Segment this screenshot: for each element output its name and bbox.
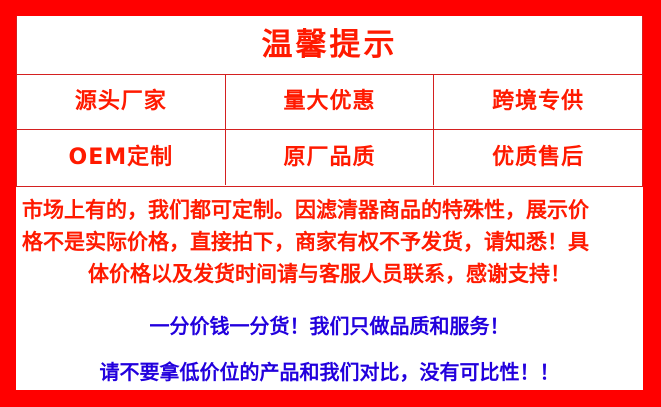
slogan-line-comparison: 请不要拿低价位的产品和我们对比，没有可比性！！ xyxy=(16,336,643,382)
feature-label: 优质售后 xyxy=(492,147,584,169)
features-table: 温馨提示 源头厂家 量大优惠 跨境专供 OEM定制 原厂品质 xyxy=(16,16,643,187)
feature-cell-source-factory: 源头厂家 xyxy=(17,75,226,129)
feature-row-1: 源头厂家 量大优惠 跨境专供 xyxy=(17,75,642,130)
feature-label: 源头厂家 xyxy=(75,91,167,113)
slogan-line-quality: 一分价钱一分货！我们只做品质和服务！ xyxy=(16,304,643,336)
promo-poster: 温馨提示 源头厂家 量大优惠 跨境专供 OEM定制 原厂品质 xyxy=(0,0,661,407)
feature-row-2: OEM定制 原厂品质 优质售后 xyxy=(17,130,642,185)
feature-cell-after-sales: 优质售后 xyxy=(434,130,642,185)
notice-line: 体价格以及发货时间请与客服人员联系，感谢支持！ xyxy=(22,258,637,290)
page-title: 温馨提示 xyxy=(262,30,398,61)
slogan-block: 一分价钱一分货！我们只做品质和服务！ 请不要拿低价位的产品和我们对比，没有可比性… xyxy=(16,304,643,382)
feature-cell-cross-border: 跨境专供 xyxy=(434,75,642,129)
feature-cell-bulk-discount: 量大优惠 xyxy=(226,75,435,129)
feature-label: OEM定制 xyxy=(69,147,174,169)
feature-cell-oem-custom: OEM定制 xyxy=(17,130,226,185)
notice-line: 格不是实际价格，直接拍下，商家有权不予发货，请知悉！具 xyxy=(22,226,637,258)
white-panel: 温馨提示 源头厂家 量大优惠 跨境专供 OEM定制 原厂品质 xyxy=(16,16,643,390)
feature-label: 跨境专供 xyxy=(492,91,584,113)
notice-paragraph: 市场上有的，我们都可定制。因滤清器商品的特殊性，展示价 格不是实际价格，直接拍下… xyxy=(16,194,643,290)
feature-label: 量大优惠 xyxy=(284,91,376,113)
feature-cell-original-quality: 原厂品质 xyxy=(226,130,435,185)
feature-label: 原厂品质 xyxy=(284,147,376,169)
notice-line: 市场上有的，我们都可定制。因滤清器商品的特殊性，展示价 xyxy=(22,194,637,226)
title-row: 温馨提示 xyxy=(17,16,642,75)
